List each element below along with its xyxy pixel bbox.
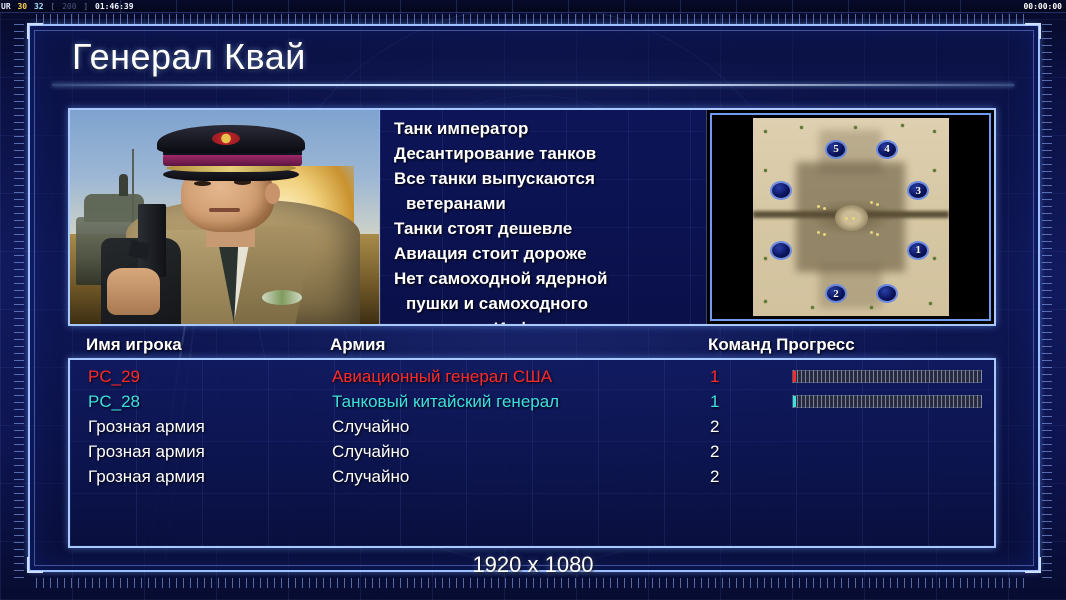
description-line: Авиация стоит дороже xyxy=(394,241,706,266)
map-tree-marker xyxy=(870,306,873,309)
general-kwai-portrait xyxy=(70,110,380,324)
cell-team: 2 xyxy=(710,464,719,489)
portrait-mouth xyxy=(209,208,240,211)
table-row[interactable]: PC_28Танковый китайский генерал1 xyxy=(70,389,994,414)
cell-team: 2 xyxy=(710,414,719,439)
cell-army: Случайно xyxy=(332,439,409,464)
status-bar: UR 30 32 [ 200 ] 01:46:39 00:00:00 xyxy=(0,0,1066,13)
cell-team: 2 xyxy=(710,439,719,464)
table-row[interactable]: PC_29Авиационный генерал США1 xyxy=(70,364,994,389)
description-line: Все танки выпускаются xyxy=(394,166,706,191)
column-header-player-name: Имя игрока xyxy=(86,335,182,355)
portrait-hand xyxy=(107,268,160,315)
page-title: Генерал Квай xyxy=(44,32,1024,82)
cell-team: 1 xyxy=(710,364,719,389)
map-preview[interactable]: 54312 xyxy=(753,118,949,316)
map-tree-marker xyxy=(764,257,767,260)
cell-player-name: Грозная армия xyxy=(88,414,205,439)
progress-bar-fill xyxy=(793,371,796,382)
description-line: Танки стоят дешевле xyxy=(394,216,706,241)
portrait-rank-badge xyxy=(262,290,302,305)
general-info-panel: Танк императорДесантирование танковВсе т… xyxy=(68,108,996,326)
status-value-1: 30 xyxy=(16,0,28,13)
map-start-position[interactable] xyxy=(772,183,790,198)
cell-player-name: PC_28 xyxy=(88,389,140,414)
map-start-position[interactable]: 4 xyxy=(878,142,896,157)
cell-player-name: Грозная армия xyxy=(88,439,205,464)
title-underline xyxy=(52,84,1014,86)
description-line: миномета Инферно xyxy=(394,316,706,324)
table-row[interactable]: Грозная армияСлучайно2 xyxy=(70,439,994,464)
column-header-army: Армия xyxy=(330,335,385,355)
frame-corner-top-left xyxy=(27,23,43,39)
map-resource-marker xyxy=(823,233,826,236)
map-tree-marker xyxy=(811,306,814,309)
map-terrain-bottom xyxy=(819,265,882,309)
cell-army: Авиационный генерал США xyxy=(332,364,552,389)
ruler-bottom xyxy=(36,578,1026,588)
map-tree-marker xyxy=(933,130,936,133)
table-row[interactable]: Грозная армияСлучайно2 xyxy=(70,464,994,489)
map-start-position[interactable]: 3 xyxy=(909,183,927,198)
player-table-rows: PC_29Авиационный генерал США1PC_28Танков… xyxy=(70,360,994,489)
map-resource-marker xyxy=(845,217,848,220)
map-tree-marker xyxy=(901,124,904,127)
player-table-panel: PC_29Авиационный генерал США1PC_28Танков… xyxy=(68,358,996,548)
description-line: Нет самоходной ядерной xyxy=(394,266,706,291)
map-resource-marker xyxy=(870,231,873,234)
cell-army: Случайно xyxy=(332,414,409,439)
status-label: UR xyxy=(0,0,12,13)
map-tree-marker xyxy=(933,169,936,172)
description-line: Десантирование танков xyxy=(394,141,706,166)
player-table-header: Имя игрока Армия Команд Прогресс xyxy=(68,335,996,359)
description-line: Танк император xyxy=(394,116,706,141)
portrait-soldier xyxy=(119,174,128,196)
cell-army: Танковый китайский генерал xyxy=(332,389,559,414)
progress-bar xyxy=(792,395,982,408)
map-resource-marker xyxy=(876,233,879,236)
progress-bar xyxy=(792,370,982,383)
map-start-position[interactable] xyxy=(878,286,896,301)
cell-team: 1 xyxy=(710,389,719,414)
ruler-right xyxy=(1042,22,1052,578)
description-list: Танк императорДесантирование танковВсе т… xyxy=(394,116,706,324)
map-tree-marker xyxy=(764,169,767,172)
portrait-cap-band xyxy=(163,154,302,166)
frame-corner-top-right xyxy=(1025,23,1041,39)
map-start-position[interactable] xyxy=(772,243,790,258)
cell-progress xyxy=(792,395,982,408)
map-tree-marker xyxy=(929,302,932,305)
status-bracket-open: [ xyxy=(49,0,56,13)
map-tree-marker xyxy=(764,300,767,303)
map-tree-marker xyxy=(800,126,803,129)
map-preview-container[interactable]: 54312 xyxy=(706,110,994,324)
status-bracket-close: ] xyxy=(82,0,89,13)
general-description: Танк императорДесантирование танковВсе т… xyxy=(380,110,706,324)
map-tree-marker xyxy=(764,130,767,133)
cell-army: Случайно xyxy=(332,464,409,489)
ruler-left xyxy=(14,22,24,578)
cell-progress xyxy=(792,370,982,383)
cell-player-name: Грозная армия xyxy=(88,464,205,489)
table-row[interactable]: Грозная армияСлучайно2 xyxy=(70,414,994,439)
portrait-eye-left xyxy=(194,181,211,187)
progress-bar-fill xyxy=(793,396,796,407)
map-tree-marker xyxy=(933,257,936,260)
portrait-ear xyxy=(265,183,280,204)
column-header-team-progress: Команд Прогресс xyxy=(708,335,855,355)
cell-player-name: PC_29 xyxy=(88,364,140,389)
map-tree-marker xyxy=(854,126,857,129)
title-bar: Генерал Квай xyxy=(44,32,1024,82)
resolution-label: 1920 x 1080 xyxy=(0,552,1066,578)
status-timer: 00:00:00 xyxy=(1023,0,1062,13)
map-start-position[interactable]: 5 xyxy=(827,142,845,157)
portrait-pistol xyxy=(138,204,166,277)
description-line: ветеранами xyxy=(394,191,706,216)
status-bracket-value: 200 xyxy=(61,0,77,13)
status-bar-ticks xyxy=(120,0,976,13)
status-value-2: 32 xyxy=(33,0,45,13)
map-start-position[interactable]: 1 xyxy=(909,243,927,258)
ruler-top xyxy=(36,14,1026,24)
description-line: пушки и самоходного xyxy=(394,291,706,316)
